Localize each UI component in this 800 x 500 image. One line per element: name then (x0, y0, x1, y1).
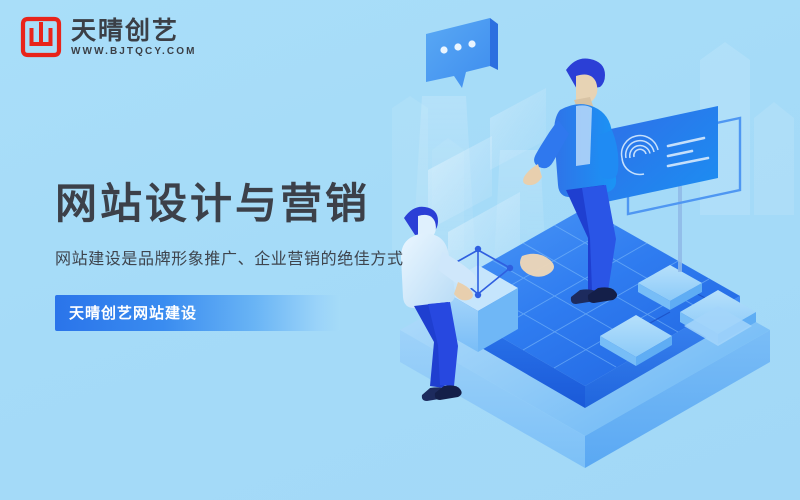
tianqing-square-logo-icon (20, 16, 62, 58)
hero-banner: 天晴创艺 WWW.BJTQCY.COM (0, 0, 800, 500)
brand-website: WWW.BJTQCY.COM (71, 47, 197, 57)
brand-logo[interactable]: 天晴创艺 WWW.BJTQCY.COM (20, 16, 197, 58)
brand-wordmark: 天晴创艺 WWW.BJTQCY.COM (71, 17, 197, 57)
hero-copy: 网站设计与营销 网站建设是品牌形象推广、企业营销的绝佳方式 天晴创艺网站建设 (55, 180, 475, 331)
hero-subtitle: 网站建设是品牌形象推广、企业营销的绝佳方式 (55, 248, 475, 270)
cta-button[interactable]: 天晴创艺网站建设 (55, 295, 340, 331)
brand-name: 天晴创艺 (71, 18, 197, 44)
page-title: 网站设计与营销 (55, 180, 475, 228)
chat-bubble-icon (426, 18, 498, 88)
